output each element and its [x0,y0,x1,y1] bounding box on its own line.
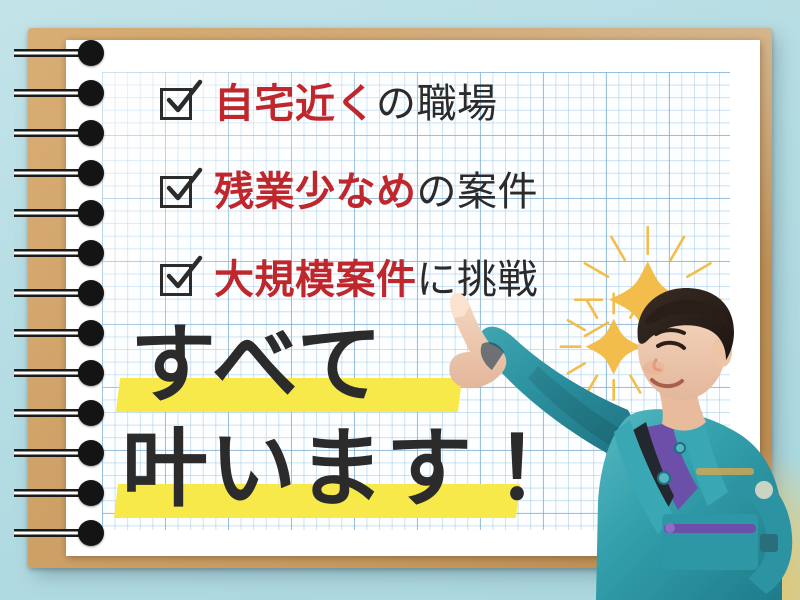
checklist-item-rest: の案件 [417,169,539,215]
spiral-ring-knob [78,480,104,506]
slogan-line-2: 叶います！ [122,426,562,512]
checklist-item-emphasis: 自宅近く [214,81,376,127]
spiral-ring-knob [78,440,104,466]
checkbox-checked-icon[interactable] [160,174,196,210]
spiral-ring-knob [78,520,104,546]
spiral-ring-knob [78,200,104,226]
spiral-ring-knob [78,360,104,386]
spiral-ring-knob [78,40,104,66]
checkmark-icon [162,78,204,120]
spiral-ring-knob [78,120,104,146]
checkbox-checked-icon[interactable] [160,262,196,298]
sparkle-small-icon [557,290,670,403]
checklist-item-label: 自宅近くの職場 [214,84,498,124]
checklist-item-label: 大規模案件に挑戦 [214,260,538,300]
checkbox-checked-icon[interactable] [160,86,196,122]
slogan-line-1: すべて [130,322,385,408]
checklist-item-label: 残業少なめの案件 [214,172,538,212]
spiral-ring-knob [78,320,104,346]
spiral-ring-knob [78,160,104,186]
spiral-ring-knob [78,280,104,306]
poster-canvas: 自宅近くの職場残業少なめの案件大規模案件に挑戦 すべて 叶います！ [0,0,800,600]
warm-glow [610,450,800,600]
checklist-item-emphasis: 残業少なめ [214,169,417,215]
spiral-binding [0,28,120,570]
spiral-ring-knob [78,80,104,106]
checkmark-icon [162,166,204,208]
checklist-item-1[interactable]: 自宅近くの職場 [160,60,680,148]
checkmark-icon [162,254,204,296]
spiral-ring-knob [78,400,104,426]
checklist-item-rest: に挑戦 [417,257,539,303]
spiral-ring-knob [78,240,104,266]
checklist-item-rest: の職場 [376,81,498,127]
checklist-item-emphasis: 大規模案件 [214,257,417,303]
